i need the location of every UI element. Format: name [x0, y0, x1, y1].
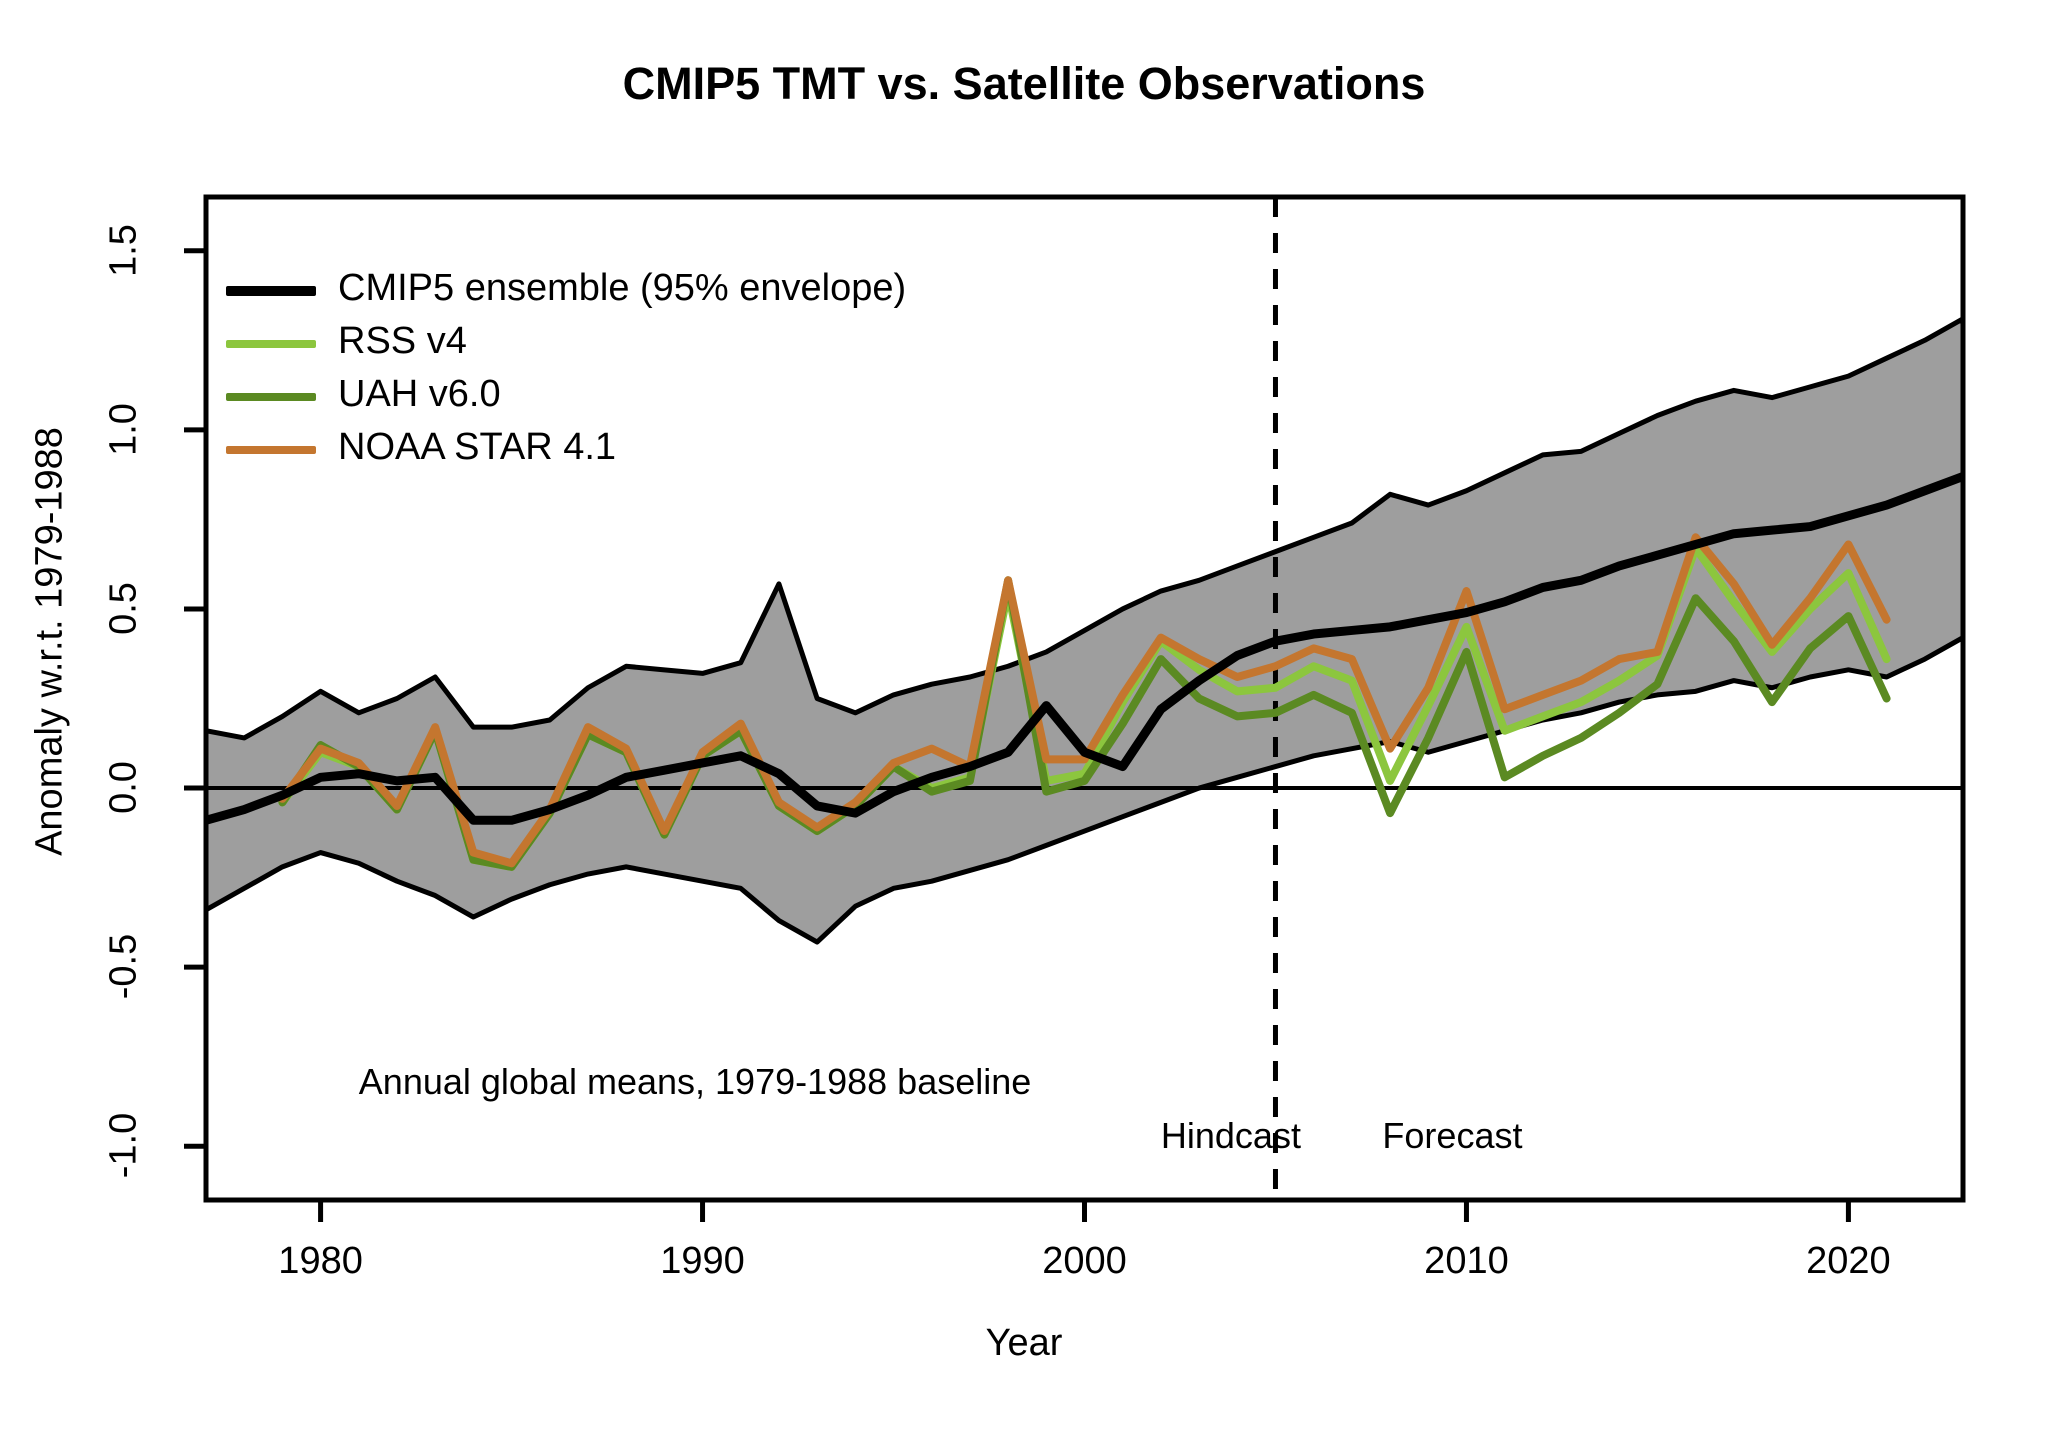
annotation-2: Forecast — [1382, 1115, 1522, 1157]
y-tick-label: 1.0 — [103, 379, 146, 479]
y-tick-label: -0.5 — [103, 917, 146, 1017]
x-tick-label: 2010 — [1424, 1240, 1509, 1283]
legend-label-0: CMIP5 ensemble (95% envelope) — [338, 267, 906, 310]
legend-swatch-3 — [226, 446, 316, 454]
y-tick-label: 0.5 — [103, 558, 146, 658]
annotation-1: Hindcast — [1161, 1115, 1301, 1157]
legend-swatch-1 — [226, 340, 316, 348]
chart-figure: CMIP5 TMT vs. Satellite Observations Ano… — [0, 0, 2048, 1451]
x-tick-label: 1990 — [660, 1240, 745, 1283]
y-tick-label: 1.5 — [103, 200, 146, 300]
legend-swatch-0 — [226, 286, 316, 296]
x-tick-label: 1980 — [278, 1240, 363, 1283]
x-tick-label: 2000 — [1042, 1240, 1127, 1283]
annotation-0: Annual global means, 1979-1988 baseline — [359, 1061, 1032, 1103]
plot-area — [0, 0, 2048, 1451]
legend-label-3: NOAA STAR 4.1 — [338, 426, 616, 469]
y-tick-label: 0.0 — [103, 738, 146, 838]
legend-label-1: RSS v4 — [338, 320, 467, 363]
legend-swatch-2 — [226, 393, 316, 401]
legend-label-2: UAH v6.0 — [338, 373, 501, 416]
y-tick-label: -1.0 — [103, 1096, 146, 1196]
x-tick-label: 2020 — [1806, 1240, 1891, 1283]
